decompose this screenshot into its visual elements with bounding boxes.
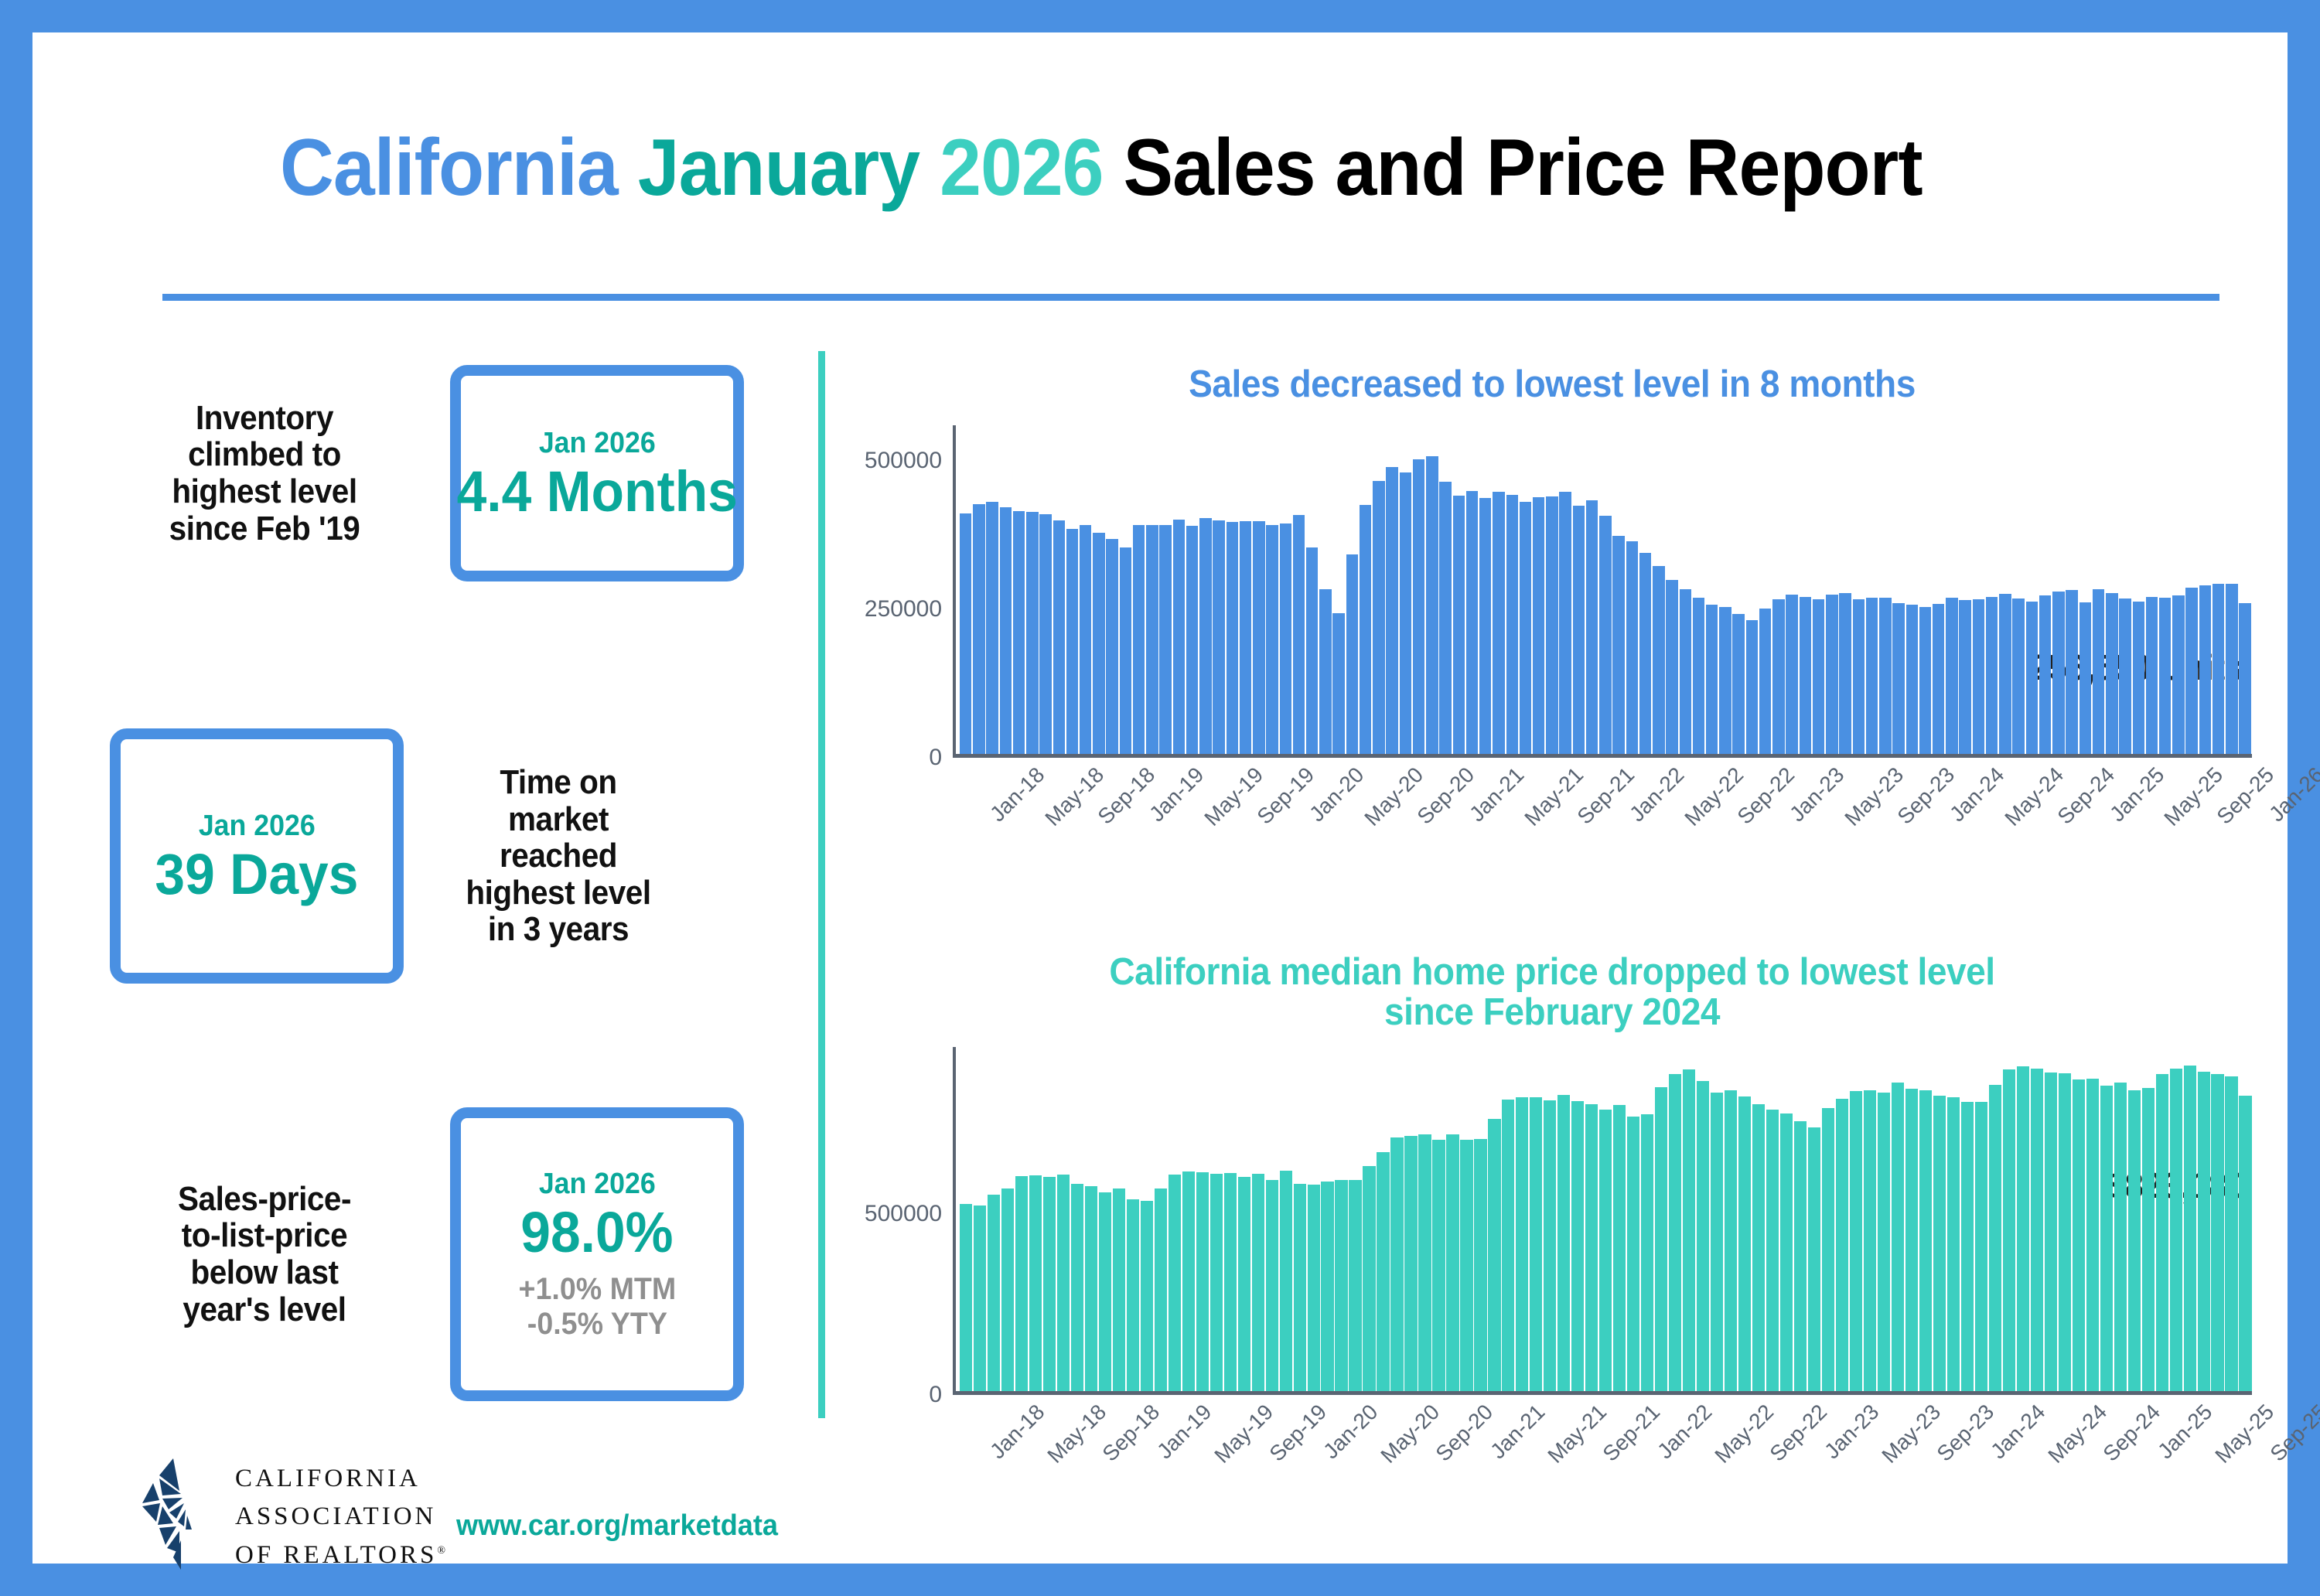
bar	[1786, 595, 1797, 754]
bar	[1349, 1180, 1361, 1391]
bar	[1879, 598, 1891, 754]
bar	[1253, 521, 1264, 754]
bar	[2114, 1083, 2127, 1391]
bar	[1919, 1090, 1932, 1391]
x-axis-tick: May-23	[1877, 1400, 1946, 1468]
bar	[1732, 614, 1744, 754]
bar	[1238, 1177, 1250, 1391]
stat-box-days: Jan 2026 39 Days	[110, 728, 404, 984]
bar	[1546, 496, 1557, 754]
x-axis-tick: Sep-18	[1093, 762, 1159, 829]
bar	[2142, 1088, 2155, 1391]
bar	[2052, 592, 2064, 754]
bar	[1039, 514, 1051, 754]
bar	[2213, 584, 2224, 754]
bar	[1466, 491, 1478, 754]
bar	[1853, 599, 1865, 754]
car-logo-text: CALIFORNIA ASSOCIATION OF REALTORS®	[235, 1460, 449, 1575]
x-axis-tick: Sep-22	[1732, 762, 1799, 829]
bar	[1360, 505, 1371, 754]
bar	[1946, 598, 1957, 754]
bar	[1571, 1101, 1584, 1391]
bar	[1213, 520, 1224, 754]
bar	[1666, 580, 1677, 754]
bar	[1866, 598, 1878, 754]
stat-value: 4.4 Months	[456, 463, 737, 520]
bar	[2156, 1074, 2168, 1391]
bar	[1071, 1184, 1083, 1391]
bar	[1266, 1180, 1278, 1391]
x-axis-tick: May-18	[1040, 762, 1109, 831]
bar	[1693, 598, 1704, 754]
y-axis-tick: 250000	[865, 596, 942, 622]
bar	[974, 1206, 986, 1391]
bar	[2031, 1069, 2043, 1391]
x-axis-tick: Jan-24	[1945, 762, 2009, 827]
bar	[2059, 1073, 2071, 1391]
bar	[1986, 597, 1998, 754]
stat-sub-mtm: +1.0% MTM	[518, 1272, 676, 1307]
bar	[1766, 1110, 1779, 1391]
bar	[1975, 1102, 1987, 1391]
stat-value: 98.0%	[520, 1204, 673, 1261]
stat-blurb: Time onmarketreachedhighest levelin 3 ye…	[416, 764, 701, 948]
bar	[1999, 594, 2011, 754]
bar	[2093, 589, 2104, 754]
bar	[1488, 1119, 1500, 1391]
bar	[2199, 585, 2211, 754]
bar	[1029, 1175, 1042, 1391]
bar	[1413, 459, 1424, 754]
bar	[1961, 1102, 1974, 1391]
median-price-plot-area: $823,180 0500000	[844, 1047, 2260, 1395]
bar	[2079, 602, 2091, 754]
bar	[1516, 1097, 1528, 1391]
bar	[2012, 598, 2024, 754]
bar	[1919, 607, 1931, 754]
x-axis-tick: May-23	[1840, 762, 1909, 831]
bar	[2086, 1079, 2099, 1391]
sales-y-axis-line	[953, 425, 956, 758]
bar	[2170, 1069, 2182, 1391]
bar	[1426, 456, 1438, 754]
bar	[1169, 1175, 1181, 1391]
logo-line-3: OF REALTORS	[235, 1541, 437, 1569]
stat-row-inventory: Inventoryclimbed tohighest levelsince Fe…	[110, 365, 806, 581]
car-logo-icon	[125, 1455, 218, 1579]
bar	[988, 1195, 1000, 1391]
stat-row-time-on-market: Jan 2026 39 Days Time onmarketreachedhig…	[110, 728, 806, 984]
bar	[1196, 1172, 1209, 1391]
x-axis-tick: Sep-23	[1892, 762, 1959, 829]
bar	[1933, 1096, 1946, 1390]
x-axis-tick: Sep-24	[2052, 762, 2119, 829]
bar	[1133, 525, 1145, 754]
bar	[2128, 1090, 2141, 1390]
bar	[1120, 547, 1131, 754]
x-axis-tick: May-19	[1200, 762, 1269, 831]
bar	[1533, 497, 1544, 754]
bar	[2073, 1079, 2085, 1391]
bar	[1836, 1099, 1848, 1391]
y-axis-tick: 500000	[865, 1201, 942, 1227]
bar	[1573, 506, 1585, 754]
bar	[1106, 539, 1117, 754]
x-axis-tick: Jan-20	[1305, 762, 1369, 827]
bar	[1280, 1171, 1292, 1391]
x-axis-tick: Jan-23	[1820, 1400, 1884, 1464]
bar	[1706, 605, 1718, 754]
x-axis-tick: Jan-19	[1152, 1400, 1216, 1464]
logo-registered-mark: ®	[437, 1545, 449, 1557]
x-axis-tick: Jan-18	[985, 762, 1049, 827]
bar	[1146, 525, 1158, 754]
bar	[1252, 1174, 1264, 1390]
bar	[1418, 1134, 1431, 1390]
stat-sub-yty: -0.5% YTY	[518, 1307, 676, 1342]
bar	[1266, 525, 1278, 754]
bar	[1479, 498, 1491, 754]
x-axis-tick: May-22	[1710, 1400, 1779, 1468]
bar	[2211, 1074, 2223, 1391]
x-axis-tick: Jan-18	[985, 1400, 1049, 1464]
market-data-url[interactable]: www.car.org/marketdata	[456, 1509, 778, 1543]
title-divider	[162, 294, 2219, 301]
bar	[1335, 1180, 1347, 1391]
bar	[1892, 1083, 1904, 1391]
bar	[1224, 1173, 1237, 1391]
bar	[1306, 547, 1318, 754]
bar	[1752, 1104, 1765, 1391]
bar	[1432, 1140, 1445, 1390]
bar	[1474, 1139, 1486, 1390]
x-axis-tick: May-21	[1543, 1400, 1612, 1468]
bar	[1697, 1081, 1709, 1391]
bar	[1155, 1188, 1167, 1390]
bar	[1947, 1097, 1960, 1391]
median-price-y-axis-line	[953, 1047, 956, 1395]
bar	[960, 513, 971, 754]
bar	[1321, 1182, 1333, 1391]
bar	[2146, 597, 2158, 754]
bar	[2045, 1073, 2057, 1391]
median-price-y-axis: 0500000	[844, 1047, 953, 1395]
x-axis-tick: Sep-19	[1264, 1400, 1331, 1466]
x-axis-tick: May-24	[2000, 762, 2069, 831]
bar	[1001, 1188, 1014, 1391]
x-axis-tick: Sep-25	[2213, 762, 2279, 829]
bar	[1294, 1184, 1306, 1390]
bar	[1864, 1090, 1876, 1390]
x-axis-tick: Sep-21	[1572, 762, 1639, 829]
bar	[1363, 1166, 1375, 1391]
x-axis-tick: May-19	[1209, 1400, 1278, 1468]
bar	[2039, 595, 2051, 754]
bar	[2184, 1066, 2196, 1391]
bar	[1639, 553, 1651, 754]
title-part-month: January	[638, 123, 940, 213]
stat-blurb: Inventoryclimbed tohighest levelsince Fe…	[122, 400, 407, 547]
median-price-title-line1: California median home price dropped to …	[887, 953, 2217, 993]
bar	[2226, 584, 2237, 754]
sales-plot-area: 256,550 Units 0250000500000	[844, 425, 2260, 758]
bar	[2239, 1096, 2251, 1391]
x-axis-tick: May-24	[2044, 1400, 2113, 1468]
bar	[2106, 593, 2117, 754]
bar	[1973, 599, 1984, 754]
bar	[1099, 1192, 1111, 1391]
median-price-title-line2: since February 2024	[887, 993, 2217, 1033]
bar	[1878, 1093, 1890, 1391]
bar	[1813, 599, 1824, 754]
bar	[1906, 605, 1918, 754]
bar	[1627, 1117, 1639, 1391]
x-axis-tick: Jan-21	[1465, 762, 1529, 827]
bar	[1240, 521, 1251, 754]
x-axis-tick: May-22	[1680, 762, 1749, 831]
bar	[1641, 1114, 1653, 1391]
bar	[1655, 1087, 1667, 1391]
bar	[1613, 1105, 1626, 1390]
bar	[1199, 518, 1211, 754]
bar	[1319, 589, 1331, 754]
x-axis-tick: Sep-23	[1932, 1400, 1998, 1466]
x-axis-tick: Jan-20	[1319, 1400, 1383, 1464]
bar	[1905, 1089, 1918, 1391]
bar	[1850, 1091, 1862, 1391]
bar	[1933, 604, 1944, 754]
bar	[1502, 1100, 1514, 1391]
bar	[1182, 1171, 1195, 1391]
median-price-bars	[959, 1047, 2252, 1391]
x-axis-tick: Sep-20	[1413, 762, 1479, 829]
bar	[1725, 1090, 1737, 1391]
bar	[1186, 526, 1198, 753]
bar	[1839, 593, 1851, 754]
stat-box-inventory: Jan 2026 4.4 Months	[450, 365, 744, 581]
bar	[1794, 1121, 1807, 1391]
bar	[1892, 603, 1904, 754]
car-logo: CALIFORNIA ASSOCIATION OF REALTORS®	[125, 1455, 449, 1579]
bar	[1377, 1152, 1389, 1391]
bar	[986, 502, 998, 754]
bar	[1293, 515, 1305, 754]
bar	[1530, 1097, 1542, 1391]
bar	[1460, 1140, 1472, 1390]
stat-value: 39 Days	[155, 846, 359, 903]
bar	[1446, 1134, 1459, 1391]
sales-y-axis: 0250000500000	[844, 425, 953, 758]
x-axis-tick: Sep-24	[2099, 1400, 2165, 1466]
bar	[1559, 492, 1571, 753]
bar	[1386, 467, 1397, 754]
bar	[1400, 472, 1411, 754]
median-price-chart-title: California median home price dropped to …	[887, 953, 2217, 1033]
bar	[1808, 1127, 1820, 1391]
stats-column: Inventoryclimbed tohighest levelsince Fe…	[110, 365, 806, 1417]
bar	[1544, 1100, 1556, 1391]
y-axis-tick: 0	[929, 745, 942, 771]
bar	[2159, 598, 2171, 754]
bar	[1826, 595, 1837, 754]
bar	[2185, 588, 2197, 754]
bar	[2017, 1066, 2029, 1391]
bar	[1113, 1188, 1125, 1391]
bar	[1439, 482, 1451, 754]
bar	[2026, 602, 2038, 754]
x-axis-tick: Sep-19	[1253, 762, 1319, 829]
bar	[1822, 1108, 1834, 1391]
bar	[2100, 1086, 2113, 1391]
bar	[1520, 502, 1531, 754]
logo-line-2: ASSOCIATION	[235, 1498, 449, 1536]
x-axis-tick: Jan-25	[2105, 762, 2169, 827]
bar	[1711, 1093, 1723, 1391]
bar	[2133, 602, 2144, 754]
stat-month: Jan 2026	[539, 427, 656, 460]
bar	[1746, 620, 1758, 754]
x-axis-tick: May-21	[1520, 762, 1588, 831]
x-axis-tick: Sep-18	[1097, 1400, 1164, 1466]
bar	[1599, 1110, 1612, 1391]
bar	[1390, 1137, 1403, 1391]
x-axis-tick: Jan-22	[1653, 1400, 1717, 1464]
x-axis-tick: May-20	[1360, 762, 1429, 831]
stat-month: Jan 2026	[539, 1168, 656, 1201]
bar	[1057, 1175, 1070, 1391]
bar	[1493, 492, 1504, 753]
y-axis-tick: 0	[929, 1382, 942, 1408]
logo-line-1: CALIFORNIA	[235, 1460, 449, 1499]
bar	[1066, 529, 1078, 754]
sales-chart: Sales decreased to lowest level in 8 mon…	[844, 365, 2260, 922]
bar	[1586, 500, 1598, 754]
title-part-california: California	[280, 123, 638, 213]
x-axis-tick: Sep-20	[1431, 1400, 1498, 1466]
bar	[1015, 1176, 1028, 1391]
bar	[1053, 520, 1065, 754]
bar	[1210, 1174, 1223, 1390]
y-axis-tick: 500000	[865, 448, 942, 474]
title-part-report: Sales and Price Report	[1123, 123, 1922, 213]
bar	[1612, 536, 1624, 754]
bar	[1738, 1096, 1751, 1391]
bar	[1141, 1201, 1153, 1391]
x-axis-tick: Jan-22	[1625, 762, 1689, 827]
stat-month: Jan 2026	[199, 810, 316, 843]
bar	[2172, 595, 2184, 754]
bar	[1000, 507, 1012, 754]
bar	[2198, 1072, 2210, 1391]
title-part-year: 2026	[940, 123, 1123, 213]
bar	[1557, 1095, 1570, 1391]
bar	[1127, 1199, 1139, 1391]
x-axis-tick: May-25	[2210, 1400, 2279, 1468]
bar	[1043, 1177, 1056, 1391]
infographic-frame: California January 2026 Sales and Price …	[32, 32, 2288, 1564]
bar	[2066, 590, 2077, 754]
bar	[1346, 554, 1358, 754]
bar	[1332, 613, 1344, 754]
median-price-chart: California median home price dropped to …	[844, 953, 2260, 1540]
bar	[1989, 1085, 2001, 1391]
x-axis-tick: Jan-24	[1987, 1400, 2051, 1464]
bar	[1800, 597, 1811, 754]
bar	[1280, 523, 1291, 754]
x-axis-tick: Jan-25	[2153, 1400, 2217, 1464]
bar	[1453, 496, 1465, 754]
bar	[1173, 520, 1185, 754]
bar	[1227, 522, 1238, 754]
bar	[1080, 525, 1091, 754]
bar	[1506, 495, 1518, 754]
bar	[1013, 511, 1025, 754]
bar	[1585, 1104, 1598, 1391]
bar	[1683, 1069, 1695, 1391]
bar	[1719, 607, 1731, 754]
bar	[1599, 516, 1611, 754]
x-axis-tick: Sep-21	[1598, 1400, 1664, 1466]
bar	[1780, 1113, 1793, 1391]
bar	[1680, 589, 1691, 754]
bar	[2225, 1076, 2237, 1391]
sales-chart-title: Sales decreased to lowest level in 8 mon…	[887, 365, 2217, 405]
bar	[960, 1204, 972, 1391]
bar	[1626, 541, 1638, 754]
bar	[1959, 600, 1970, 754]
median-price-x-axis: Jan-18May-18Sep-18Jan-19May-19Sep-19Jan-…	[959, 1395, 2252, 1511]
x-axis-tick: Jan-21	[1486, 1400, 1550, 1464]
bar	[1093, 533, 1104, 754]
x-axis-tick: Sep-22	[1765, 1400, 1831, 1466]
x-axis-tick: May-18	[1042, 1400, 1111, 1468]
bar	[1653, 566, 1664, 754]
x-axis-tick: May-20	[1377, 1400, 1445, 1468]
bar	[1404, 1136, 1417, 1391]
x-axis-tick: Jan-19	[1145, 762, 1209, 827]
bar	[1759, 609, 1771, 754]
bar	[1772, 599, 1784, 754]
x-axis-tick: May-25	[2160, 762, 2229, 831]
bar	[1669, 1074, 1681, 1391]
bar	[2119, 598, 2131, 754]
page-title: California January 2026 Sales and Price …	[280, 118, 2260, 218]
bar	[2239, 603, 2250, 754]
x-axis-tick: Sep-25	[2265, 1400, 2320, 1466]
bar	[2003, 1069, 2015, 1391]
bar	[1085, 1186, 1097, 1391]
stat-row-sales-to-list: Sales-price-to-list-pricebelow lastyear'…	[110, 1107, 806, 1401]
bar	[1159, 525, 1171, 754]
stat-box-ratio: Jan 2026 98.0% +1.0% MTM -0.5% YTY	[450, 1107, 744, 1401]
stat-blurb: Sales-price-to-list-pricebelow lastyear'…	[122, 1181, 407, 1328]
bar	[1308, 1185, 1320, 1391]
bar	[1373, 481, 1384, 754]
column-divider	[818, 351, 825, 1418]
bar	[1026, 512, 1038, 754]
x-axis-tick: Jan-26	[2264, 762, 2320, 827]
sales-x-axis: Jan-18May-18Sep-18Jan-19May-19Sep-19Jan-…	[959, 758, 2252, 874]
sales-bars	[959, 425, 2252, 754]
x-axis-tick: Jan-23	[1785, 762, 1849, 827]
bar	[973, 504, 984, 754]
